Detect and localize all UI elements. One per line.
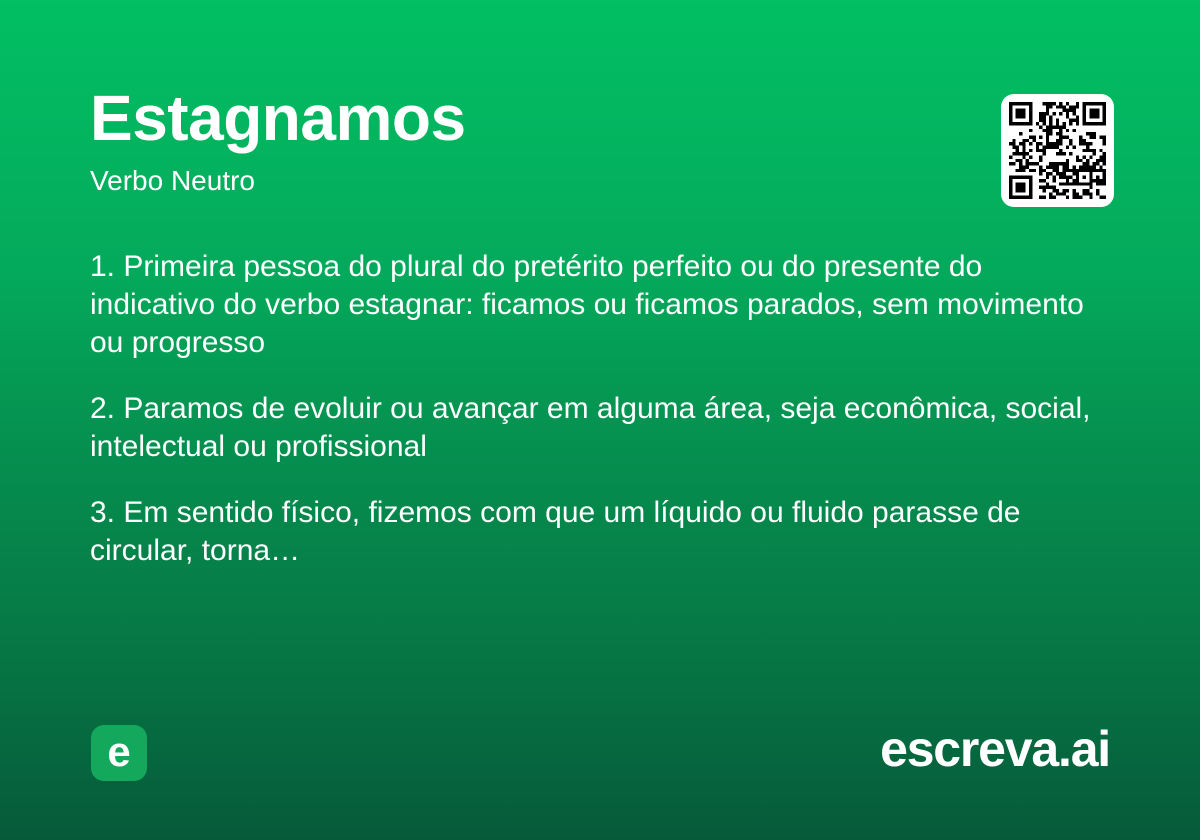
brand-logo-letter: e [107, 731, 130, 773]
word-class-label: Verbo Neutro [90, 167, 970, 195]
qr-code-icon [1009, 102, 1106, 199]
brand-wordmark: escreva.ai [880, 722, 1110, 777]
page-title: Estagnamos [90, 86, 970, 150]
definition-list: 1. Primeira pessoa do plural do pretérit… [90, 248, 1100, 570]
brand-logo[interactable]: e [91, 725, 147, 781]
card-header: Estagnamos Verbo Neutro [90, 86, 970, 195]
definition-item: 3. Em sentido físico, fizemos com que um… [90, 494, 1100, 570]
definition-item: 2. Paramos de evoluir ou avançar em algu… [90, 390, 1100, 466]
qr-code[interactable] [1001, 94, 1114, 207]
definition-card: Estagnamos Verbo Neutro 1. Primeira pess… [0, 0, 1200, 840]
definition-item: 1. Primeira pessoa do plural do pretérit… [90, 248, 1100, 362]
